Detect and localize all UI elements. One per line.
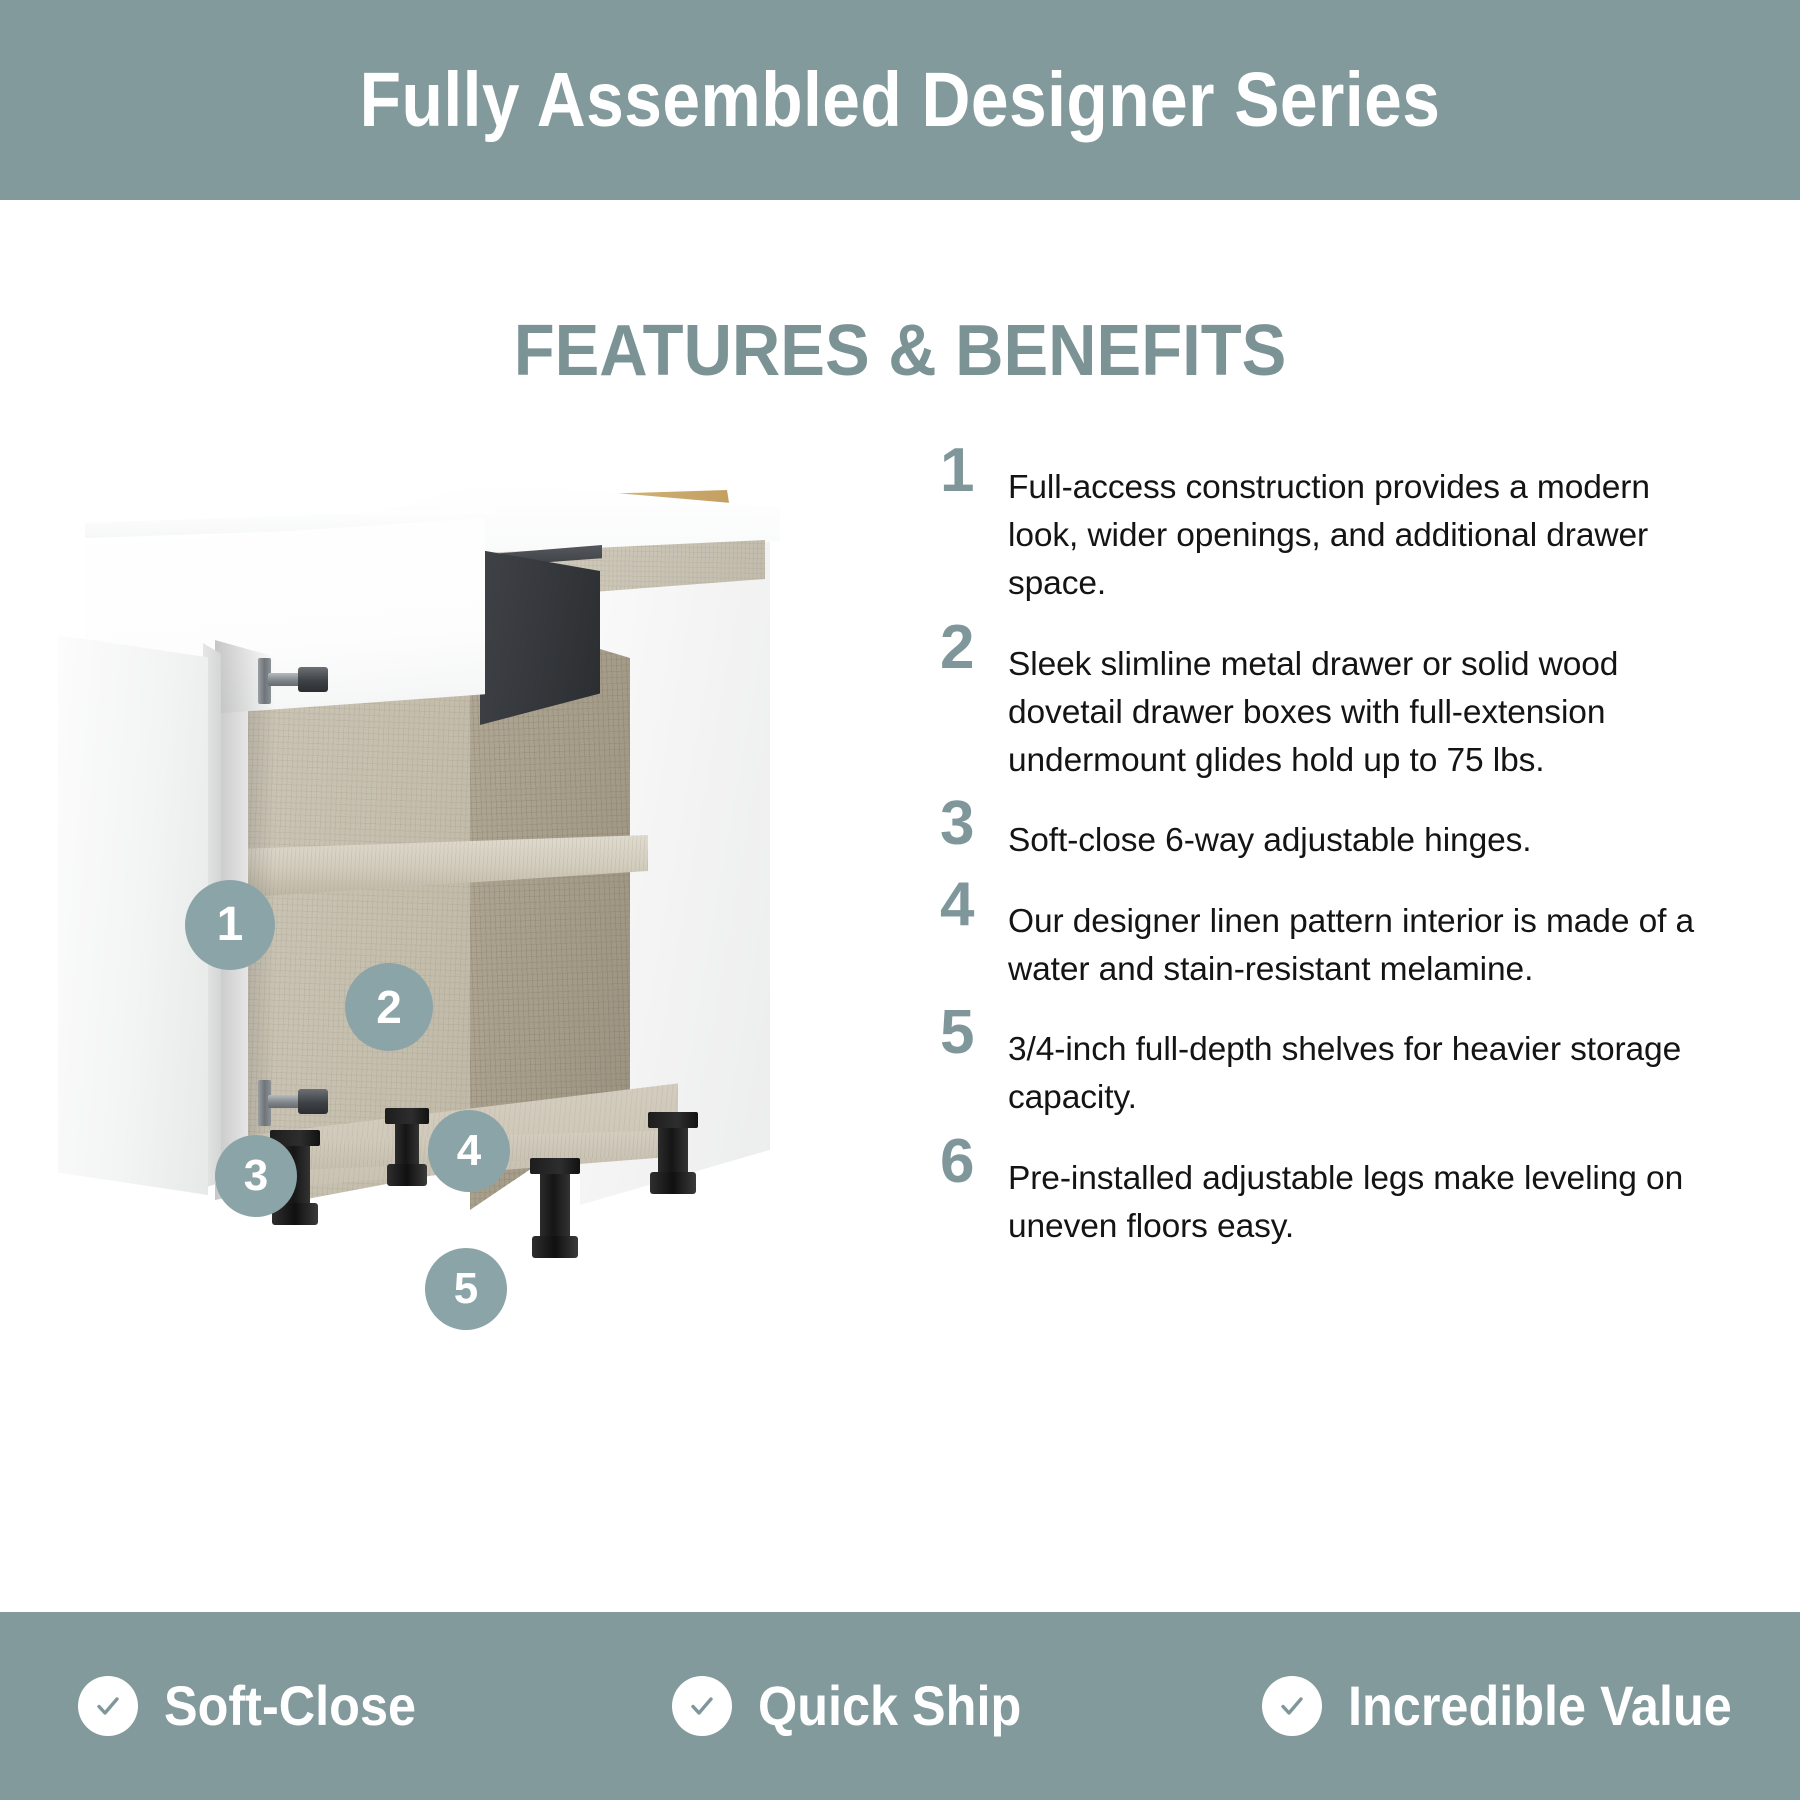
feature-item: 4 Our designer linen pattern interior is… <box>940 884 1700 994</box>
product-illustration <box>40 440 820 1340</box>
features-list: 1 Full-access construction provides a mo… <box>940 450 1700 1269</box>
feature-number: 5 <box>940 1008 1008 1059</box>
footer-label: Soft-Close <box>164 1678 416 1734</box>
footer-label: Incredible Value <box>1348 1678 1732 1734</box>
footer-banner: Soft-Close Quick Ship Incredible Value <box>0 1612 1800 1800</box>
feature-item: 5 3/4-inch full-depth shelves for heavie… <box>940 1012 1700 1122</box>
soft-close-hinge-icon <box>258 658 330 704</box>
callout-badge-2: 2 <box>345 963 433 1051</box>
feature-description: Pre-installed adjustable legs make level… <box>1008 1141 1700 1251</box>
callout-badge-3: 3 <box>215 1135 297 1217</box>
footer-label: Quick Ship <box>758 1678 1021 1734</box>
main-content: 1 2 3 4 5 6 1 Full-access construction p… <box>0 430 1800 1560</box>
feature-number: 2 <box>940 623 1008 674</box>
footer-badge-incredible-value: Incredible Value <box>1262 1676 1774 1736</box>
marketing-infographic: Fully Assembled Designer Series FEATURES… <box>0 0 1800 1800</box>
feature-item: 2 Sleek slimline metal drawer or solid w… <box>940 627 1700 786</box>
feature-item: 6 Pre-installed adjustable legs make lev… <box>940 1141 1700 1251</box>
adjustable-leg <box>658 1112 688 1194</box>
header-banner: Fully Assembled Designer Series <box>0 0 1800 200</box>
callout-badge-4: 4 <box>428 1110 510 1192</box>
section-heading: FEATURES & BENEFITS <box>63 315 1737 387</box>
page-title: Fully Assembled Designer Series <box>360 62 1441 139</box>
feature-item: 1 Full-access construction provides a mo… <box>940 450 1700 609</box>
feature-description: Sleek slimline metal drawer or solid woo… <box>1008 627 1700 786</box>
feature-number: 4 <box>940 880 1008 931</box>
feature-description: Soft-close 6-way adjustable hinges. <box>1008 803 1700 865</box>
adjustable-leg <box>395 1108 419 1186</box>
feature-description: Our designer linen pattern interior is m… <box>1008 884 1700 994</box>
callout-badge-5: 5 <box>425 1248 507 1330</box>
footer-badge-soft-close: Soft-Close <box>78 1676 444 1736</box>
soft-close-hinge-icon <box>258 1080 330 1126</box>
check-circle-icon <box>1262 1676 1322 1736</box>
feature-number: 3 <box>940 799 1008 850</box>
feature-number: 6 <box>940 1137 1008 1188</box>
callout-badge-1: 1 <box>185 880 275 970</box>
check-circle-icon <box>672 1676 732 1736</box>
footer-badge-quick-ship: Quick Ship <box>672 1676 1051 1736</box>
feature-description: 3/4-inch full-depth shelves for heavier … <box>1008 1012 1700 1122</box>
feature-item: 3 Soft-close 6-way adjustable hinges. <box>940 803 1700 865</box>
feature-number: 1 <box>940 446 1008 497</box>
adjustable-leg <box>540 1158 570 1258</box>
check-circle-icon <box>78 1676 138 1736</box>
feature-description: Full-access construction provides a mode… <box>1008 450 1700 609</box>
